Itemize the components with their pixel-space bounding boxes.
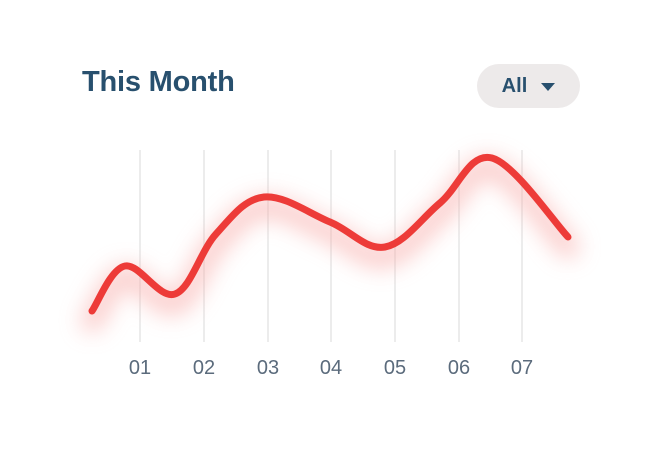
x-tick-label: 03 (238, 354, 298, 382)
chart-area: 01020304050607 (0, 132, 662, 456)
chart-line-glow-path (92, 167, 568, 321)
x-tick-label: 05 (365, 354, 425, 382)
x-tick-label: 01 (110, 354, 170, 382)
chart-card: This Month All 01020304050607 (0, 0, 662, 456)
x-tick-label: 07 (492, 354, 552, 382)
chevron-down-icon (541, 83, 555, 91)
card-header: This Month All (0, 0, 662, 132)
range-filter-label: All (502, 76, 528, 96)
range-filter-dropdown[interactable]: All (477, 64, 580, 108)
chart-line-glow (92, 167, 568, 321)
x-axis-labels: 01020304050607 (0, 354, 662, 394)
x-tick-label: 06 (429, 354, 489, 382)
x-tick-label: 04 (301, 354, 361, 382)
page-title: This Month (82, 62, 235, 102)
x-tick-label: 02 (174, 354, 234, 382)
line-chart-plot (0, 132, 662, 362)
